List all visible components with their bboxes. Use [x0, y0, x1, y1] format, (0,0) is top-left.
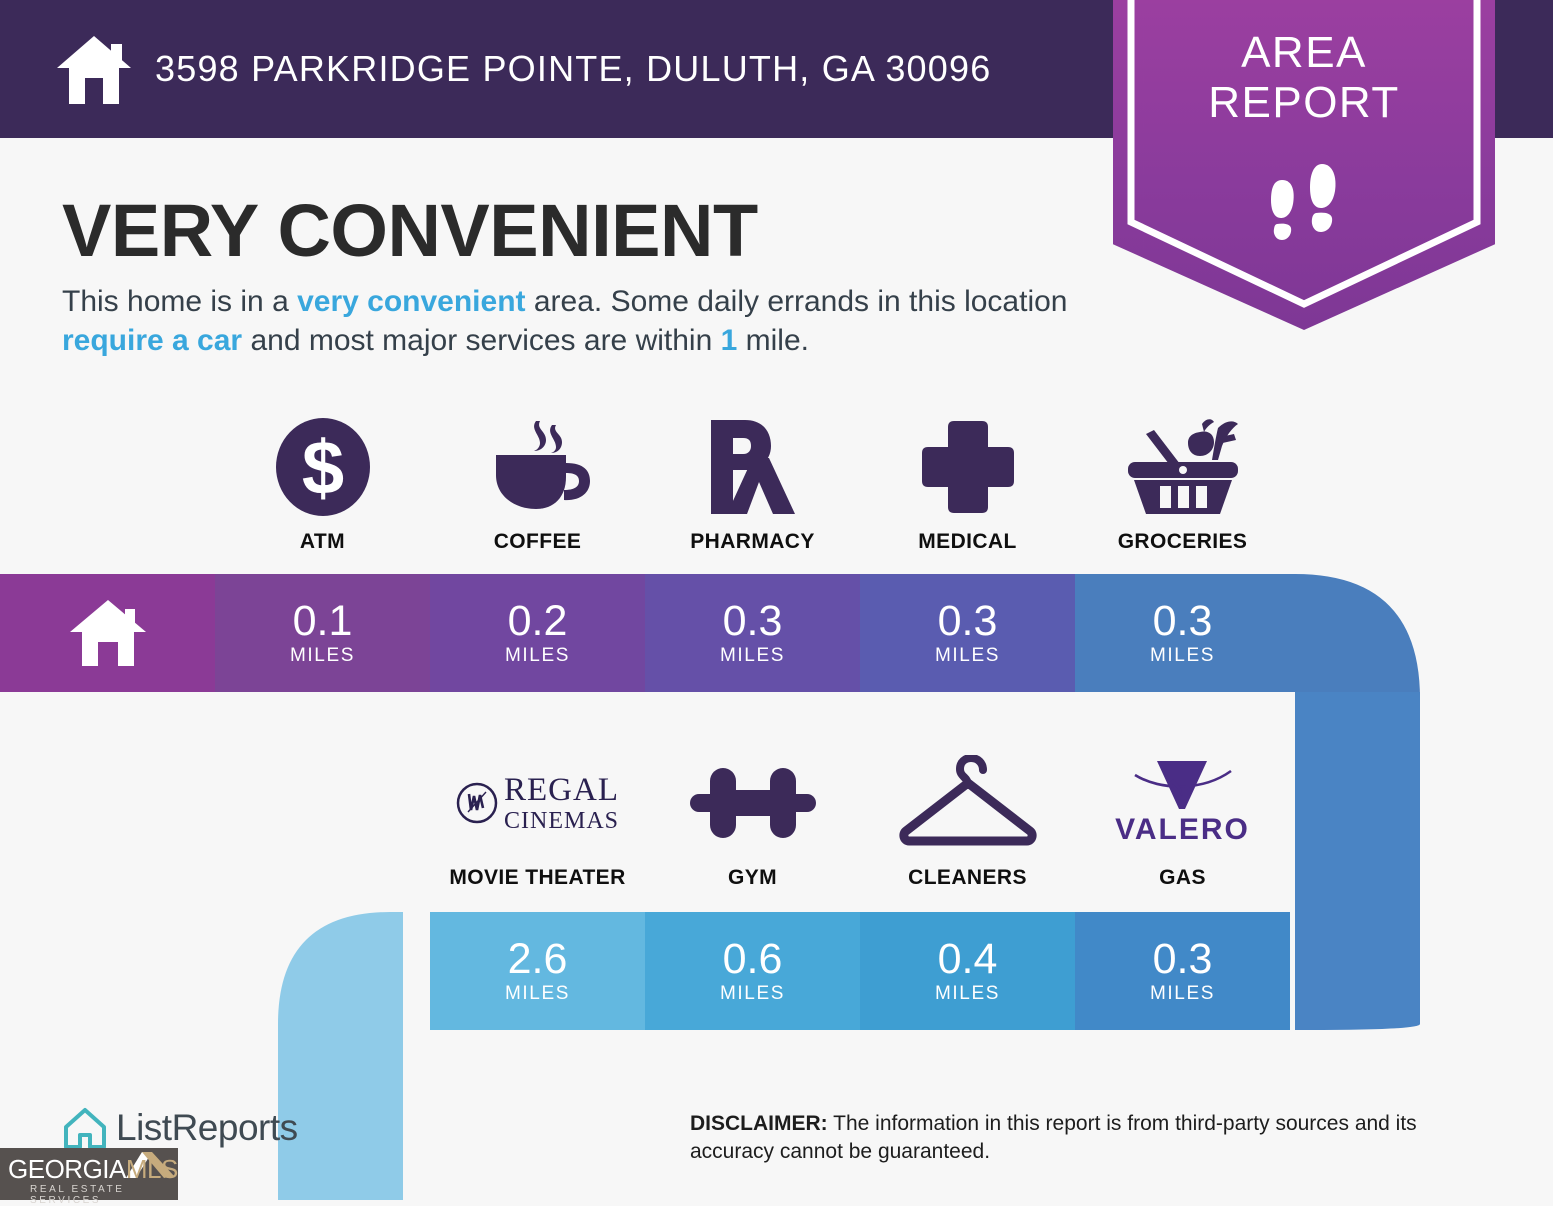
- distance-unit: MILES: [290, 645, 355, 667]
- mls-subtitle: REAL ESTATE SERVICES: [30, 1184, 178, 1206]
- distance-unit: MILES: [720, 645, 785, 667]
- mls-georgia-text: GEORGIA: [8, 1154, 126, 1184]
- poi-label: PHARMACY: [645, 530, 860, 554]
- poi-label: ATM: [215, 530, 430, 554]
- valero-wordmark: VALERO: [1115, 813, 1250, 847]
- distance-segment-medical: 0.3 MILES: [860, 574, 1075, 692]
- medical-cross-icon: [860, 412, 1075, 522]
- distance-value: 2.6: [508, 937, 568, 981]
- distance-value: 0.6: [723, 937, 783, 981]
- distance-segment-pharmacy: 0.3 MILES: [645, 574, 860, 692]
- regal-wordmark-line1: REGAL: [504, 774, 619, 807]
- dumbbell-icon: [645, 748, 860, 858]
- distance-segment-groceries: 0.3 MILES: [1075, 574, 1290, 692]
- distance-value: 0.3: [1153, 599, 1213, 643]
- poi-label: GROCERIES: [1075, 530, 1290, 554]
- distance-segment-gym: 0.6 MILES: [645, 912, 860, 1030]
- grocery-basket-icon: [1075, 412, 1290, 522]
- distance-segment-coffee: 0.2 MILES: [430, 574, 645, 692]
- distance-unit: MILES: [505, 983, 570, 1005]
- poi-label: GYM: [645, 866, 860, 890]
- poi-cleaners: CLEANERS: [860, 748, 1075, 890]
- poi-coffee: COFFEE: [430, 412, 645, 554]
- mls-mls-text: MLS: [126, 1154, 178, 1184]
- distance-unit: MILES: [1150, 645, 1215, 667]
- poi-atm: $ ATM: [215, 412, 430, 554]
- poi-label: CLEANERS: [860, 866, 1075, 890]
- poi-movie-theater: REGAL CINEMAS MOVIE THEATER: [430, 748, 645, 890]
- distance-unit: MILES: [720, 983, 785, 1005]
- valero-logo: VALERO: [1075, 748, 1290, 858]
- distance-segment-gas: 0.3 MILES: [1075, 912, 1290, 1030]
- poi-gym: GYM: [645, 748, 860, 890]
- distance-value: 0.3: [1153, 937, 1213, 981]
- distance-unit: MILES: [505, 645, 570, 667]
- coffee-cup-icon: [430, 412, 645, 522]
- regal-wordmark-line2: CINEMAS: [504, 809, 619, 833]
- poi-label: GAS: [1075, 866, 1290, 890]
- distance-unit: MILES: [935, 983, 1000, 1005]
- listreports-wordmark: ListReports: [116, 1107, 298, 1149]
- rx-icon: [645, 412, 860, 522]
- disclaimer-label: DISCLAIMER:: [690, 1112, 828, 1135]
- distance-value: 0.3: [938, 599, 998, 643]
- distance-segment-atm: 0.1 MILES: [215, 574, 430, 692]
- poi-pharmacy: PHARMACY: [645, 412, 860, 554]
- poi-label: COFFEE: [430, 530, 645, 554]
- mls-wordmark: GEORGIAMLS: [8, 1154, 178, 1185]
- distance-value: 0.2: [508, 599, 568, 643]
- listreports-house-icon: [62, 1105, 108, 1151]
- regal-cinemas-logo: REGAL CINEMAS: [430, 748, 645, 858]
- distance-unit: MILES: [1150, 983, 1215, 1005]
- distance-value: 0.3: [723, 599, 783, 643]
- poi-medical: MEDICAL: [860, 412, 1075, 554]
- distance-unit: MILES: [935, 645, 1000, 667]
- poi-label: MOVIE THEATER: [430, 866, 645, 890]
- distance-segment-cleaners: 0.4 MILES: [860, 912, 1075, 1030]
- regal-emblem-icon: [456, 782, 498, 824]
- poi-groceries: GROCERIES: [1075, 412, 1290, 554]
- dollar-circle-icon: $: [215, 412, 430, 522]
- distance-segment-movie-theater: 2.6 MILES: [430, 912, 645, 1030]
- distance-value: 0.1: [293, 599, 353, 643]
- home-marker-segment: [0, 574, 215, 692]
- poi-label: MEDICAL: [860, 530, 1075, 554]
- disclaimer-text: DISCLAIMER: The information in this repo…: [690, 1110, 1490, 1166]
- georgia-mls-badge: GEORGIAMLS REAL ESTATE SERVICES: [0, 1148, 178, 1200]
- svg-text:$: $: [301, 426, 343, 511]
- house-icon: [68, 598, 148, 668]
- valero-v-icon: [1117, 759, 1247, 817]
- poi-gas: VALERO GAS: [1075, 748, 1290, 890]
- distance-value: 0.4: [938, 937, 998, 981]
- clothes-hanger-icon: [860, 748, 1075, 858]
- listreports-logo: ListReports: [62, 1105, 298, 1151]
